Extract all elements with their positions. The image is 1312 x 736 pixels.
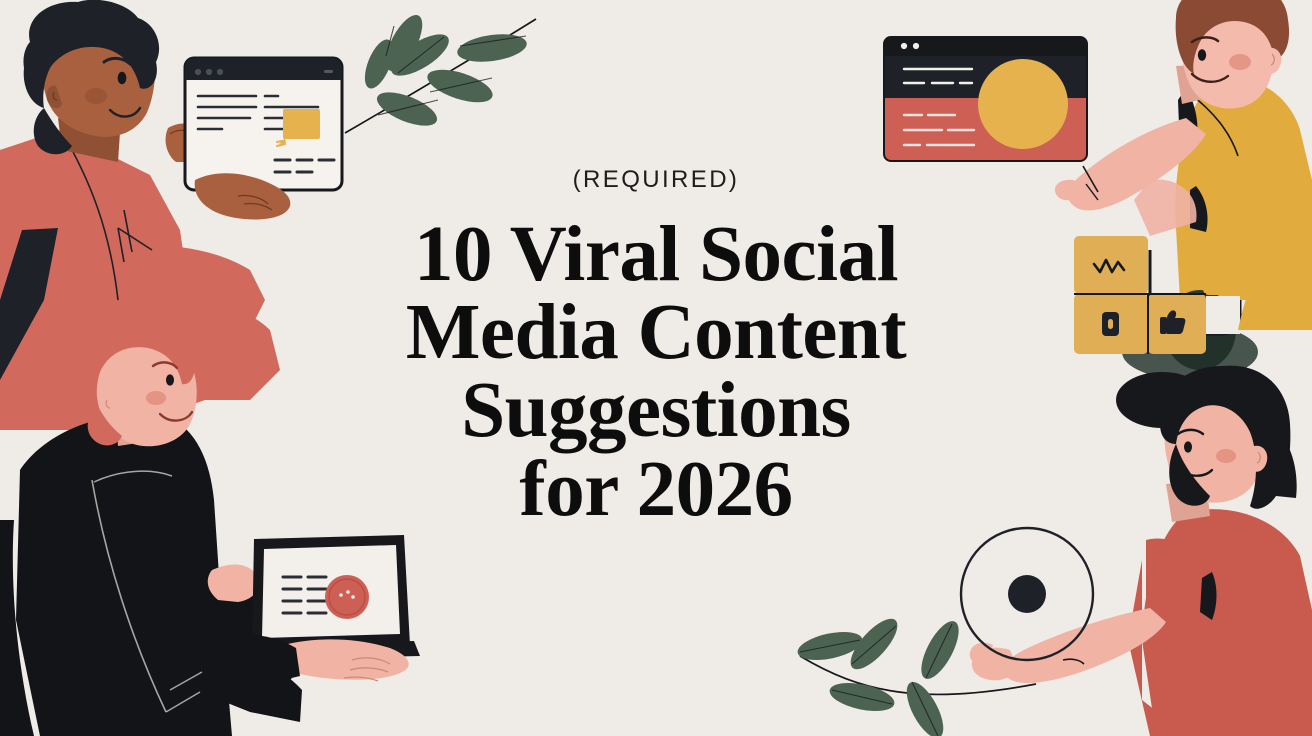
eyebrow-label: (REQUIRED): [573, 168, 740, 192]
headline-line-1: 10 Viral Social: [346, 216, 966, 294]
headline-line-3: Suggestions: [346, 372, 966, 450]
page-title: 10 Viral Social Media Content Suggestion…: [346, 216, 966, 529]
headline-line-4: for 2026: [346, 451, 966, 529]
leaf: [899, 677, 950, 736]
poster-canvas: (REQUIRED) 10 Viral Social Media Content…: [0, 0, 1312, 736]
headline-line-2: Media Content: [346, 294, 966, 372]
